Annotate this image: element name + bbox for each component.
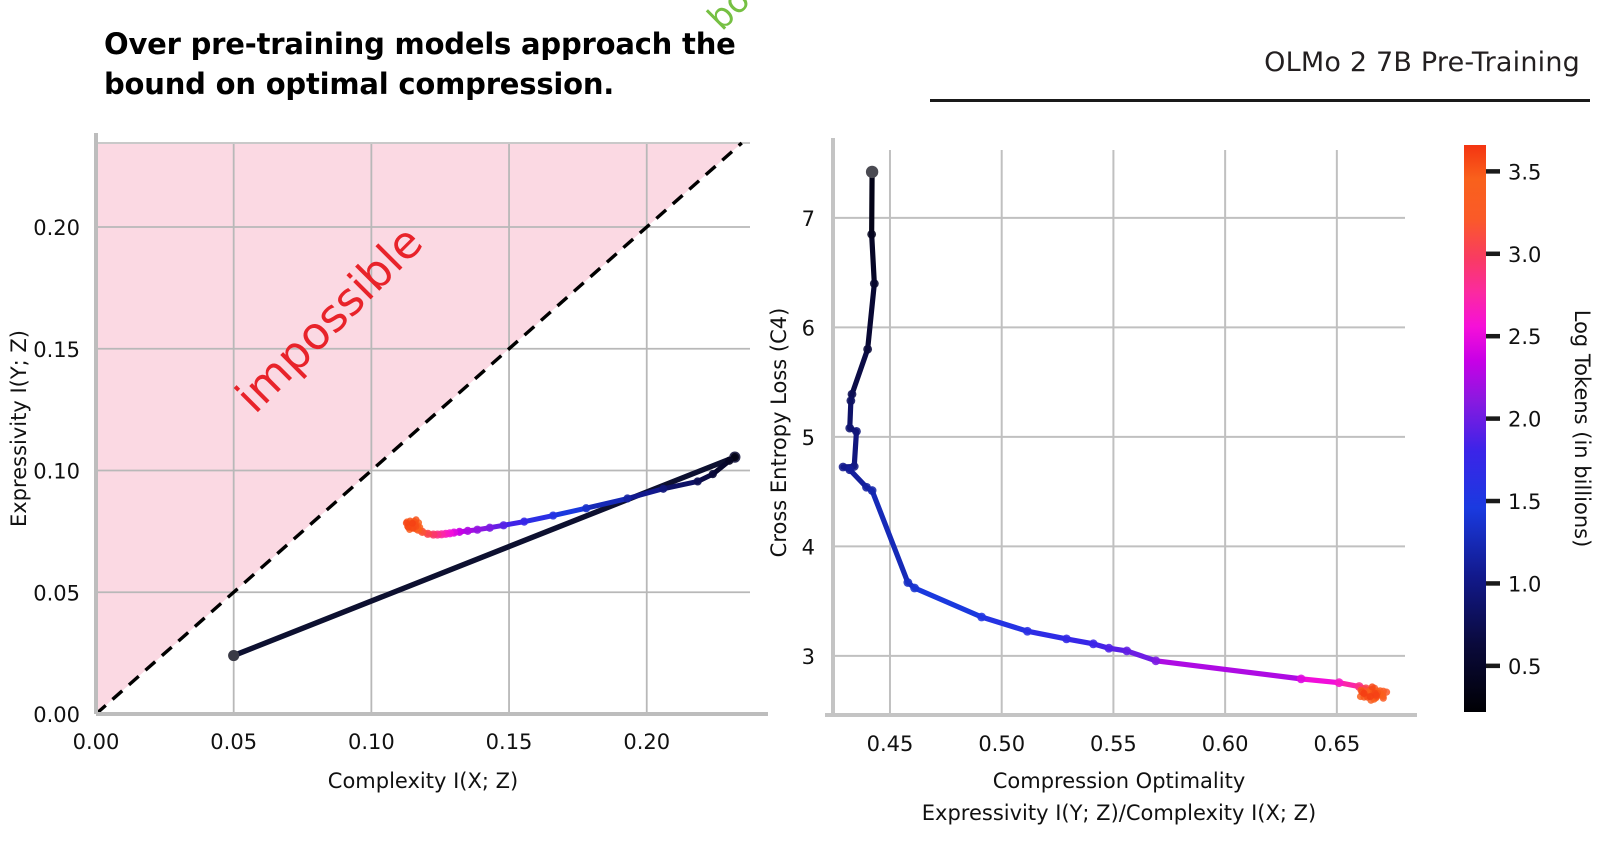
- trajectory-point: [1023, 627, 1032, 636]
- trajectory-point: [845, 465, 854, 474]
- left-chart: 0.000.050.100.150.200.000.050.100.150.20…: [0, 0, 800, 865]
- trajectory-point: [1105, 644, 1114, 653]
- colorbar-tick-label: 2.0: [1508, 408, 1541, 432]
- colorbar-title: Log Tokens (in billions): [1570, 310, 1594, 548]
- trajectory-point: [499, 521, 507, 529]
- trajectory-point: [863, 345, 872, 354]
- y-axis-title: Cross Entropy Loss (C4): [767, 308, 791, 558]
- x-axis-title-line2: Expressivity I(Y; Z)/Complexity I(X; Z): [922, 801, 1316, 825]
- trajectory-point: [1360, 690, 1367, 697]
- x-tick-label: 0.45: [867, 732, 914, 756]
- y-tick-label: 7: [802, 207, 815, 231]
- trajectory-point: [1089, 639, 1098, 648]
- trajectory-point: [725, 457, 733, 465]
- trajectory-point: [1367, 693, 1374, 700]
- x-tick-label: 0.10: [348, 730, 395, 754]
- y-tick-label: 6: [802, 316, 815, 340]
- colorbar-tick-label: 1.5: [1508, 490, 1541, 514]
- x-tick-label: 0.60: [1202, 732, 1249, 756]
- y-tick-label: 3: [802, 645, 815, 669]
- trajectory-point: [659, 485, 667, 493]
- colorbar-tick-label: 0.5: [1508, 655, 1541, 679]
- trajectory-point: [709, 470, 717, 478]
- y-tick-label: 0.10: [33, 460, 80, 484]
- trajectory-point: [409, 520, 416, 527]
- trajectory-point: [403, 520, 410, 527]
- y-tick-label: 4: [802, 535, 815, 559]
- x-tick-label: 0.55: [1090, 732, 1137, 756]
- trajectory-point: [1062, 635, 1071, 644]
- y-tick-label: 0.20: [33, 216, 80, 240]
- x-tick-label: 0.50: [978, 732, 1025, 756]
- x-tick-label: 0.00: [73, 730, 120, 754]
- trajectory-point: [867, 230, 876, 239]
- colorbar: 0.51.01.52.02.53.03.5Log Tokens (in bill…: [1440, 120, 1600, 760]
- x-axis-title-line1: Compression Optimality: [993, 769, 1246, 793]
- trajectory-point: [1297, 674, 1306, 683]
- x-tick-label: 0.20: [623, 730, 670, 754]
- colorbar-gradient: [1464, 145, 1486, 712]
- trajectory-point: [520, 518, 528, 526]
- trajectory-point: [582, 504, 590, 512]
- trajectory-segment: [872, 234, 875, 283]
- colorbar-tick-label: 2.5: [1508, 325, 1541, 349]
- trajectory-point: [694, 477, 702, 485]
- trajectory-point: [549, 511, 557, 519]
- y-tick-label: 0.05: [33, 581, 80, 605]
- trajectory-point: [910, 584, 919, 593]
- colorbar-tick-label: 1.0: [1508, 572, 1541, 596]
- x-tick-label: 0.65: [1313, 732, 1360, 756]
- y-axis-title: Expressivity I(Y; Z): [7, 330, 31, 527]
- y-tick-label: 0.00: [33, 703, 80, 727]
- x-tick-label: 0.05: [210, 730, 257, 754]
- x-axis-title: Complexity I(X; Z): [328, 769, 518, 793]
- trajectory-point: [1151, 656, 1160, 665]
- colorbar-tick-label: 3.5: [1508, 160, 1541, 184]
- trajectory-point: [1335, 678, 1344, 687]
- trajectory-point: [464, 527, 472, 535]
- trajectory-segment: [854, 431, 856, 466]
- y-tick-label: 5: [802, 426, 815, 450]
- trajectory-start-marker: [866, 166, 878, 178]
- trajectory-point: [852, 427, 861, 436]
- colorbar-tick-label: 3.0: [1508, 243, 1541, 267]
- trajectory-point: [870, 279, 879, 288]
- trajectory-point: [977, 613, 986, 622]
- trajectory-point: [623, 494, 631, 502]
- x-tick-label: 0.15: [486, 730, 533, 754]
- trajectory-point: [846, 396, 855, 405]
- trajectory-point: [486, 524, 494, 532]
- trajectory-point: [1369, 683, 1376, 690]
- trajectory-point: [473, 526, 481, 534]
- trajectory-point: [868, 486, 877, 495]
- trend-endpoint-marker: [228, 650, 239, 661]
- trajectory-point: [1122, 647, 1131, 656]
- y-tick-label: 0.15: [33, 338, 80, 362]
- plot-background: [833, 150, 1405, 715]
- slide-root: Over pre-training models approach the bo…: [0, 0, 1600, 865]
